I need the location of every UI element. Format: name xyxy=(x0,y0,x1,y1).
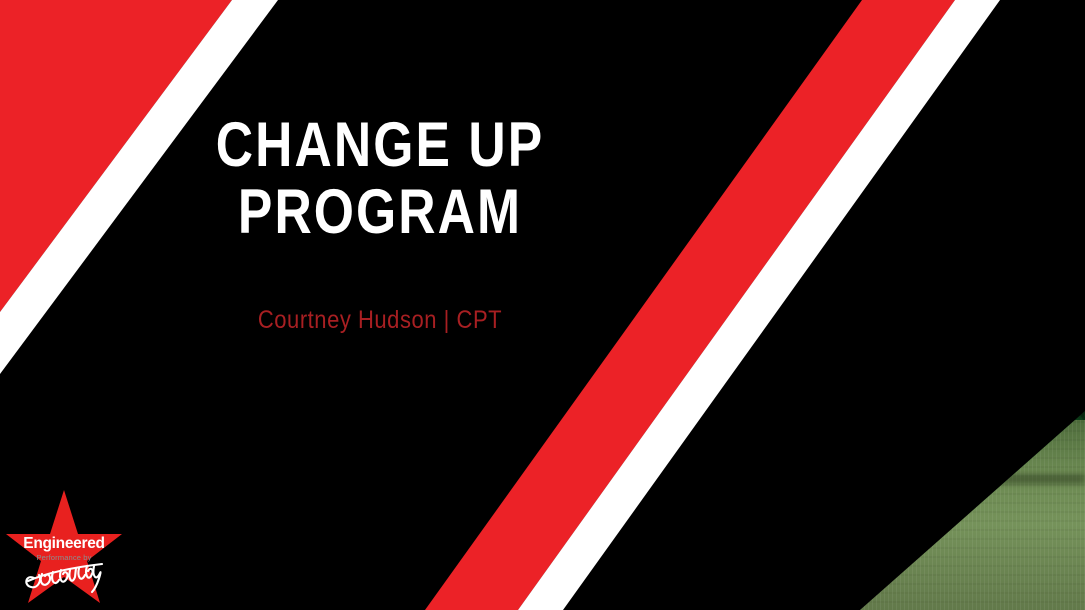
athlete-front-shin xyxy=(699,465,768,581)
presenter-credit: Courtney Hudson | CPT xyxy=(46,306,715,335)
brand-logo: Engineered Performance by xyxy=(6,482,122,604)
athlete-front-shoe xyxy=(693,548,828,608)
logo-tagline: Performance by xyxy=(36,553,91,562)
presentation-slide: CHANGE UP PROGRAM Courtney Hudson | CPT … xyxy=(0,0,1085,610)
logo-word: Engineered xyxy=(23,535,104,552)
